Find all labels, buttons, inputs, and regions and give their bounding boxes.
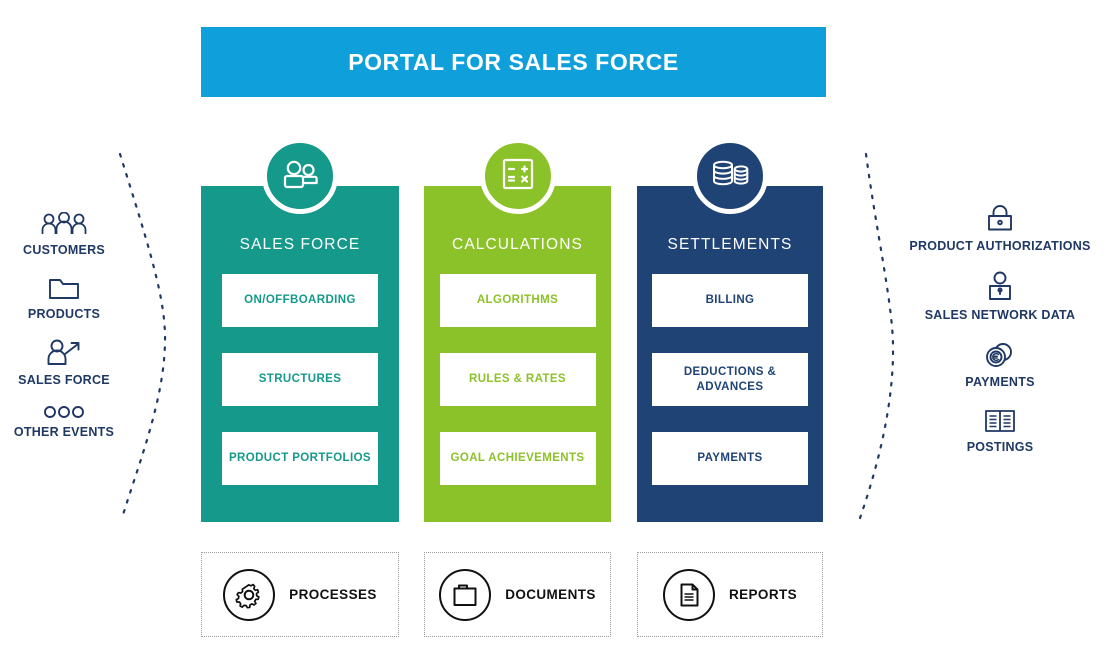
pillar-card[interactable]: BILLING: [652, 274, 808, 327]
pillar-title: SALES FORCE: [240, 236, 361, 254]
right-item-label: PRODUCT AUTHORIZATIONS: [909, 239, 1090, 253]
right-item-label: POSTINGS: [967, 440, 1034, 454]
badge-sales-force: [262, 138, 338, 214]
database-stack-icon: [710, 158, 750, 195]
pillar-sales-force: SALES FORCE ON/OFFBOARDING STRUCTURES PR…: [201, 186, 399, 522]
badge-settlements: [692, 138, 768, 214]
pillar-card[interactable]: DEDUCTIONS & ADVANCES: [652, 353, 808, 406]
footer-box-processes[interactable]: PROCESSES: [201, 552, 399, 637]
right-item-label: PAYMENTS: [965, 375, 1034, 389]
badge-calculations: [480, 138, 556, 214]
left-item-other-events: OTHER EVENTS: [0, 404, 128, 439]
footer-box-reports[interactable]: REPORTS: [637, 552, 823, 637]
pillar-card[interactable]: ALGORITHMS: [440, 274, 596, 327]
right-item-product-authorizations: PRODUCT AUTHORIZATIONS: [900, 204, 1100, 253]
person-with-arrow-icon: [44, 338, 84, 368]
users-group-icon: [280, 159, 320, 194]
person-lock-icon: [984, 271, 1016, 303]
pillar-card[interactable]: PRODUCT PORTFOLIOS: [222, 432, 378, 485]
briefcase-folder-icon: [439, 569, 491, 621]
pillar-card[interactable]: STRUCTURES: [222, 353, 378, 406]
pillar-title: CALCULATIONS: [452, 236, 583, 254]
gear-icon: [223, 569, 275, 621]
pillar-card-stack: BILLING DEDUCTIONS & ADVANCES PAYMENTS: [637, 274, 823, 485]
left-item-customers: CUSTOMERS: [0, 212, 128, 257]
users-group-icon: [40, 212, 88, 238]
right-item-postings: POSTINGS: [900, 407, 1100, 454]
right-dashed-curve: [860, 154, 893, 518]
right-item-label: SALES NETWORK DATA: [925, 308, 1076, 322]
document-page-icon: [663, 569, 715, 621]
left-item-sales-force: SALES FORCE: [0, 338, 128, 387]
pillar-card-stack: ALGORITHMS RULES & RATES GOAL ACHIEVEMEN…: [424, 274, 611, 485]
right-item-payments: PAYMENTS: [900, 340, 1100, 389]
left-item-label: SALES FORCE: [18, 373, 110, 387]
pillar-card-stack: ON/OFFBOARDING STRUCTURES PRODUCT PORTFO…: [201, 274, 399, 485]
left-inputs-list: CUSTOMERS PRODUCTS: [0, 212, 128, 439]
left-item-label: PRODUCTS: [28, 307, 100, 321]
header-banner: PORTAL FOR SALES FORCE: [201, 27, 826, 97]
lock-icon: [984, 204, 1016, 234]
diagram-canvas: PORTAL FOR SALES FORCE CUS: [0, 0, 1115, 668]
three-dots-icon: [41, 404, 87, 420]
pillar-title: SETTLEMENTS: [668, 236, 793, 254]
footer-box-documents[interactable]: DOCUMENTS: [424, 552, 611, 637]
right-item-sales-network-data: SALES NETWORK DATA: [900, 271, 1100, 322]
calculator-icon: [501, 157, 535, 196]
pillar-card[interactable]: PAYMENTS: [652, 432, 808, 485]
left-item-label: OTHER EVENTS: [14, 425, 114, 439]
footer-label: REPORTS: [729, 587, 797, 602]
pillar-card[interactable]: GOAL ACHIEVEMENTS: [440, 432, 596, 485]
page-title: PORTAL FOR SALES FORCE: [348, 49, 679, 76]
footer-label: PROCESSES: [289, 587, 377, 602]
open-book-icon: [983, 407, 1017, 435]
pillar-card[interactable]: RULES & RATES: [440, 353, 596, 406]
folder-icon: [47, 274, 81, 302]
pillar-settlements: SETTLEMENTS BILLING DEDUCTIONS & ADVANCE…: [637, 186, 823, 522]
left-item-label: CUSTOMERS: [23, 243, 105, 257]
pillar-card[interactable]: ON/OFFBOARDING: [222, 274, 378, 327]
right-outputs-list: PRODUCT AUTHORIZATIONS SALES NETWORK DAT…: [900, 204, 1100, 454]
pillar-calculations: CALCULATIONS ALGORITHMS RULES & RATES GO…: [424, 186, 611, 522]
euro-coins-icon: [983, 340, 1017, 370]
footer-label: DOCUMENTS: [505, 587, 596, 602]
left-item-products: PRODUCTS: [0, 274, 128, 321]
